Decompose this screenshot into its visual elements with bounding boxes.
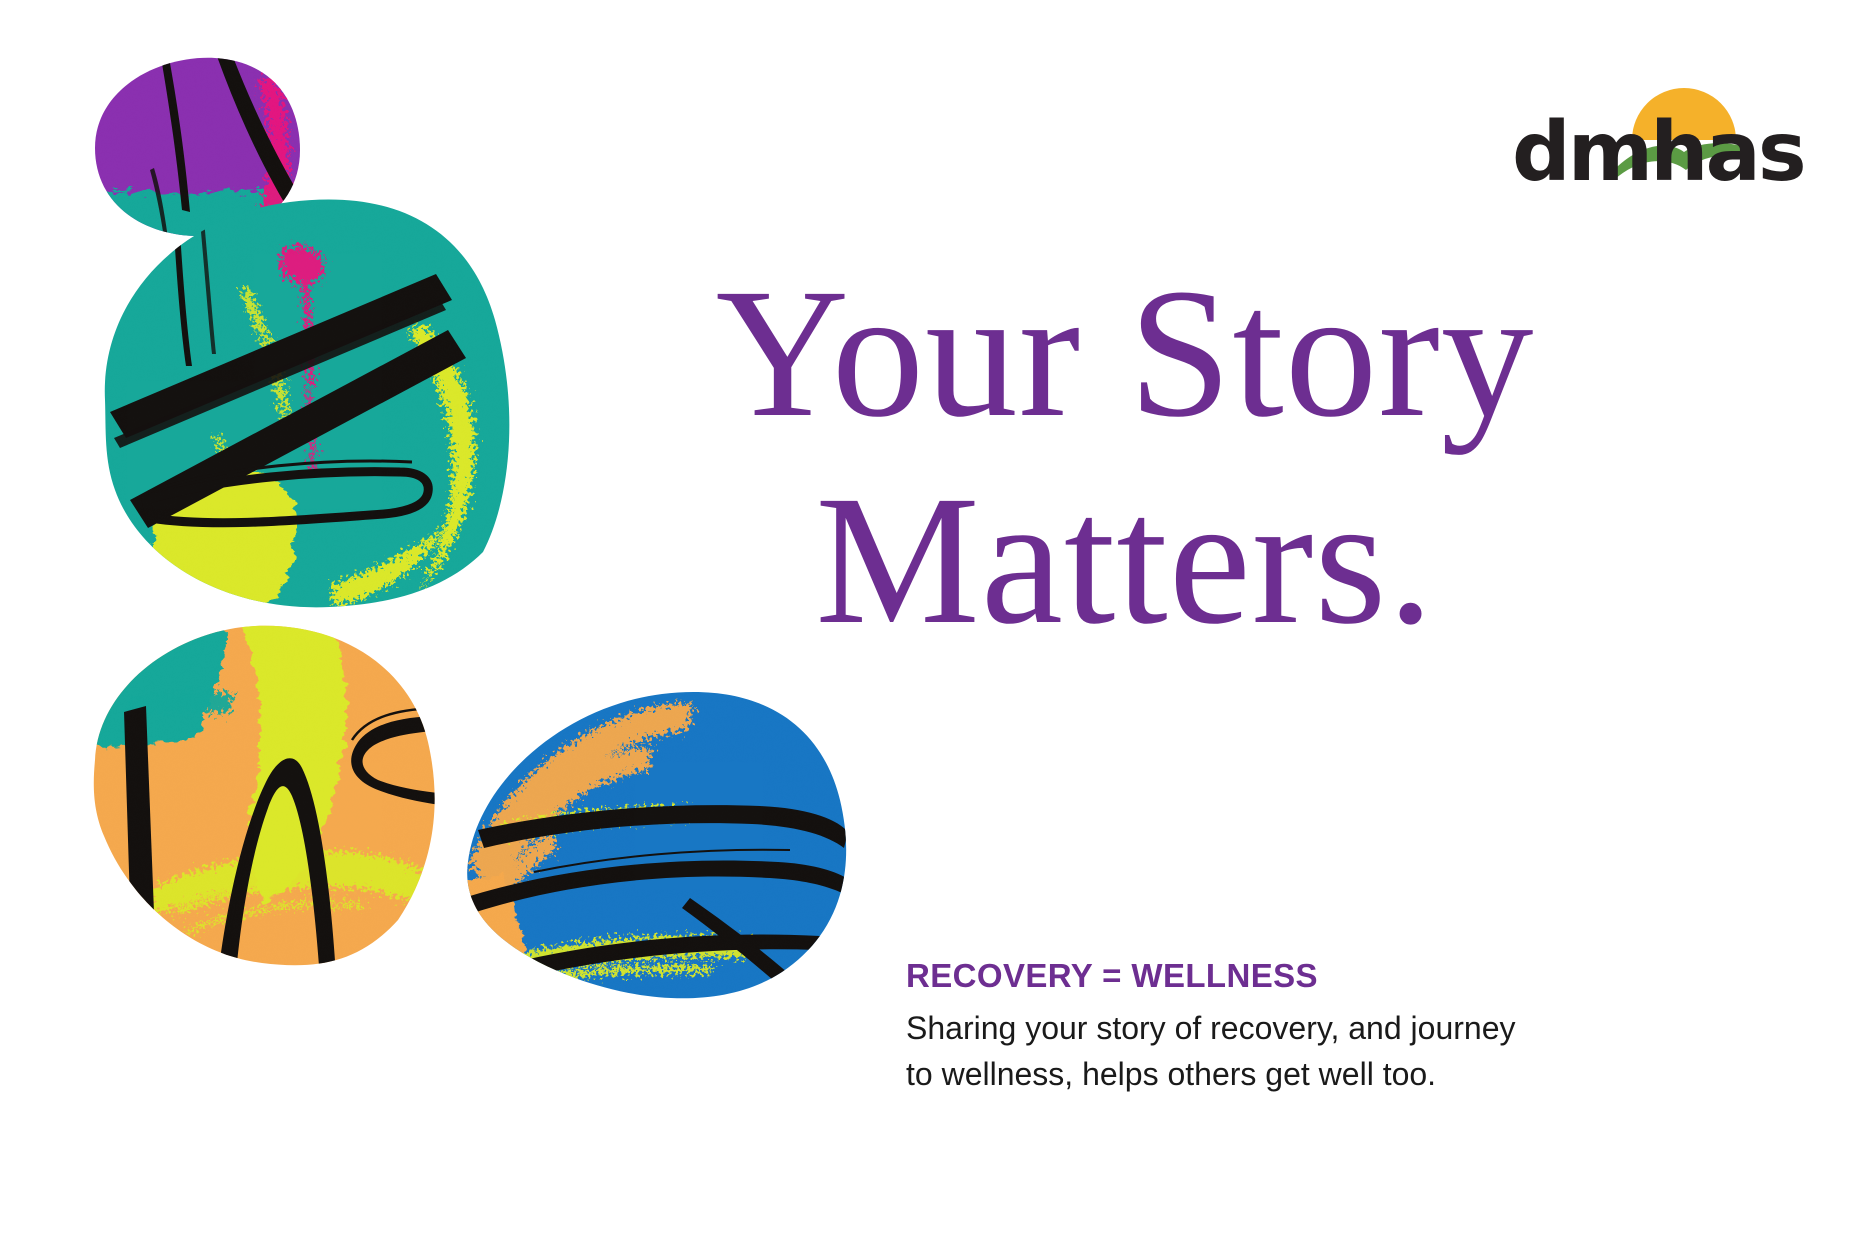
- dmhas-logo: dmhas: [1512, 78, 1772, 213]
- purple-blob: [80, 40, 330, 260]
- dmhas-wordmark: dmhas: [1512, 112, 1772, 194]
- headline-line-2: Matters.: [560, 457, 1690, 664]
- page-title: Your Story Matters.: [560, 250, 1690, 664]
- poster-canvas: dmhas Your Story Matters. RECOVERY = WEL…: [0, 0, 1850, 1250]
- tagline-body: Sharing your story of recovery, and jour…: [906, 1006, 1526, 1097]
- tagline-body-line-1: Sharing your story of recovery, and jour…: [906, 1006, 1526, 1051]
- orange-blob: [85, 615, 448, 996]
- tagline-heading: RECOVERY = WELLNESS: [906, 958, 1526, 994]
- blue-blob: [455, 680, 855, 1020]
- headline-line-1: Your Story: [560, 250, 1690, 457]
- teal-blob: [95, 190, 535, 620]
- tagline-block: RECOVERY = WELLNESS Sharing your story o…: [906, 958, 1526, 1097]
- tagline-body-line-2: to wellness, helps others get well too.: [906, 1052, 1526, 1097]
